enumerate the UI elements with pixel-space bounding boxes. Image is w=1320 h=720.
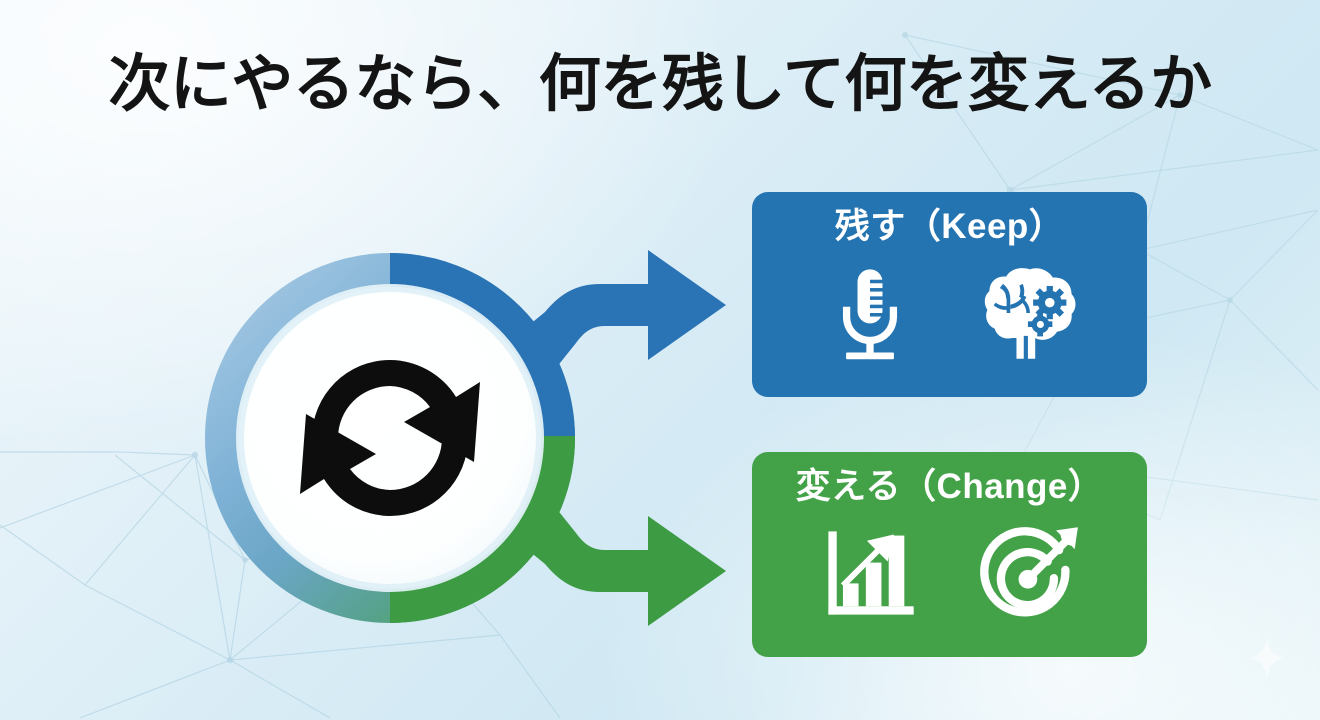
cycle-ring <box>222 270 558 606</box>
bar-chart-growth-icon <box>818 521 922 625</box>
arrow-to-keep <box>512 250 726 378</box>
card-change[interactable]: 変える（Change） <box>752 452 1147 657</box>
slide-root: 次にやるなら、何を残して何を変えるか <box>0 0 1320 720</box>
card-change-icons <box>818 521 1082 625</box>
target-arrow-icon <box>978 521 1082 625</box>
sparkle-icon <box>1250 638 1284 678</box>
arrow-to-change <box>512 498 726 626</box>
card-keep-title: 残す（Keep） <box>835 208 1065 247</box>
card-change-title: 変える（Change） <box>796 468 1104 507</box>
brain-gears-icon <box>978 261 1082 365</box>
card-keep[interactable]: 残す（Keep） <box>752 192 1147 397</box>
card-keep-icons <box>818 261 1082 365</box>
microphone-icon <box>818 261 922 365</box>
